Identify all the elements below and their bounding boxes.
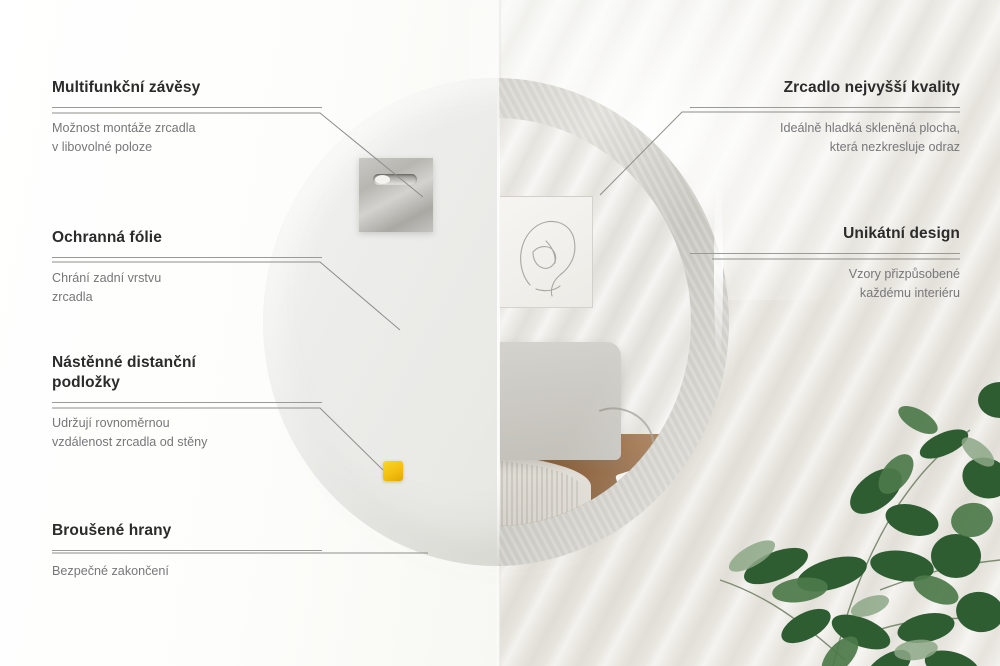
desc-line: Udržují rovnoměrnou (52, 414, 322, 433)
callout-multifunctional-hangers[interactable]: Multifunkční závěsy Možnost montáže zrca… (52, 78, 322, 157)
callout-ground-edges[interactable]: Broušené hrany Bezpečné zakončení (52, 521, 322, 581)
hanger-plate (359, 158, 433, 232)
callout-rule (52, 107, 322, 108)
callout-title: Ochranná fólie (52, 228, 322, 248)
callout-title: Nástěnné distanční (52, 353, 322, 373)
callout-rule (690, 107, 960, 108)
green-foliage (680, 360, 1000, 666)
desc-line: Bezpečné zakončení (52, 562, 322, 581)
callout-description: Udržují rovnoměrnou vzdálenost zrcadla o… (52, 414, 322, 452)
desc-line: každému interiéru (690, 284, 960, 303)
callout-protective-film[interactable]: Ochranná fólie Chrání zadní vrstvu zrcad… (52, 228, 322, 307)
callout-description: Vzory přizpůsobené každému interiéru (690, 265, 960, 303)
callout-wall-spacers[interactable]: Nástěnné distanční podložky Udržují rovn… (52, 353, 322, 452)
desc-line: která nezkresluje odraz (690, 138, 960, 157)
product-infographic: Multifunkční závěsy Možnost montáže zrca… (0, 0, 1000, 666)
callout-title-line2: podložky (52, 373, 322, 393)
callout-rule (690, 253, 960, 254)
callout-unique-design[interactable]: Unikátní design Vzory přizpůsobené každé… (690, 224, 960, 303)
callout-rule (52, 550, 322, 551)
desc-line: zrcadla (52, 288, 322, 307)
callout-rule (52, 257, 322, 258)
yellow-spacer-pad (383, 461, 403, 481)
callout-description: Možnost montáže zrcadla v libovolné polo… (52, 119, 322, 157)
callout-description: Ideálně hladká skleněná plocha, která ne… (690, 119, 960, 157)
line-art-face-icon (500, 197, 592, 307)
foliage-icon (680, 360, 1000, 666)
callout-rule (52, 402, 322, 403)
callout-title: Zrcadlo nejvyšší kvality (690, 78, 960, 98)
callout-highest-quality-mirror[interactable]: Zrcadlo nejvyšší kvality Ideálně hladká … (690, 78, 960, 157)
keyhole-slot-icon (373, 174, 417, 185)
desc-line: v libovolné poloze (52, 138, 322, 157)
round-mirror (263, 78, 729, 566)
desc-line: Možnost montáže zrcadla (52, 119, 322, 138)
callout-title: Broušené hrany (52, 521, 322, 541)
desc-line: Vzory přizpůsobené (690, 265, 960, 284)
callout-title: Unikátní design (690, 224, 960, 244)
poster-line-art-face (499, 196, 593, 308)
desc-line: vzdálenost zrcadla od stěny (52, 433, 322, 452)
desc-line: Ideálně hladká skleněná plocha, (690, 119, 960, 138)
desc-line: Chrání zadní vrstvu (52, 269, 322, 288)
mirror-half-split (497, 78, 500, 566)
callout-description: Bezpečné zakončení (52, 562, 322, 581)
callout-title: Multifunkční závěsy (52, 78, 322, 98)
callout-description: Chrání zadní vrstvu zrcadla (52, 269, 322, 307)
